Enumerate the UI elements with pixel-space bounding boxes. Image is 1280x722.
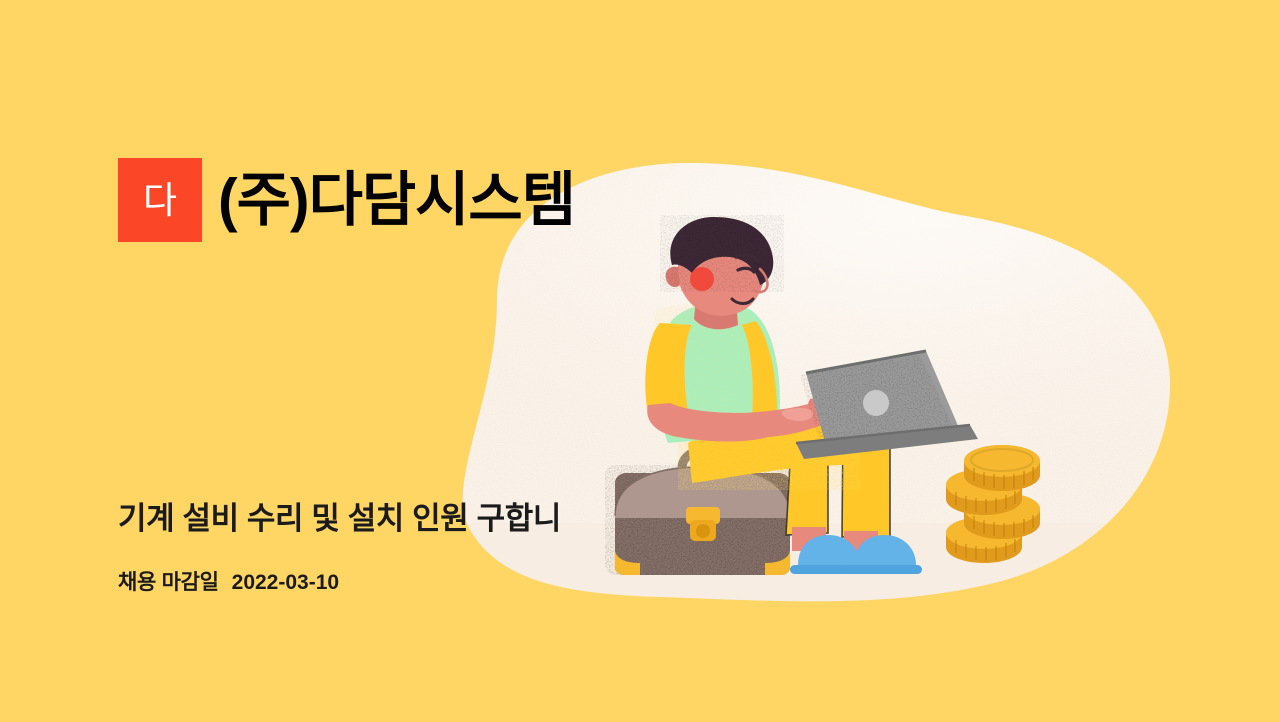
illustration-person-laptop [560,215,1080,610]
laptop [796,347,978,459]
job-title: 기계 설비 수리 및 설치 인원 구합니 [118,500,561,539]
job-posting-poster: 다 (주)다담시스템 기계 설비 수리 및 설치 인원 구합니 채용 마감일 2… [0,0,1280,722]
company-logo-initial: 다 [143,182,177,219]
posting-text-block: 기계 설비 수리 및 설치 인원 구합니 채용 마감일 2022-03-10 [118,500,561,596]
poster-header: 다 (주)다담시스템 [118,130,575,271]
deadline-row: 채용 마감일 2022-03-10 [118,566,561,596]
coin-stack [946,445,1040,563]
company-logo-badge: 다 [118,158,202,242]
company-name: (주)다담시스템 [218,170,575,232]
coin [964,445,1040,491]
deadline-date: 2022-03-10 [232,571,339,595]
deadline-label: 채용 마감일 [118,566,219,596]
